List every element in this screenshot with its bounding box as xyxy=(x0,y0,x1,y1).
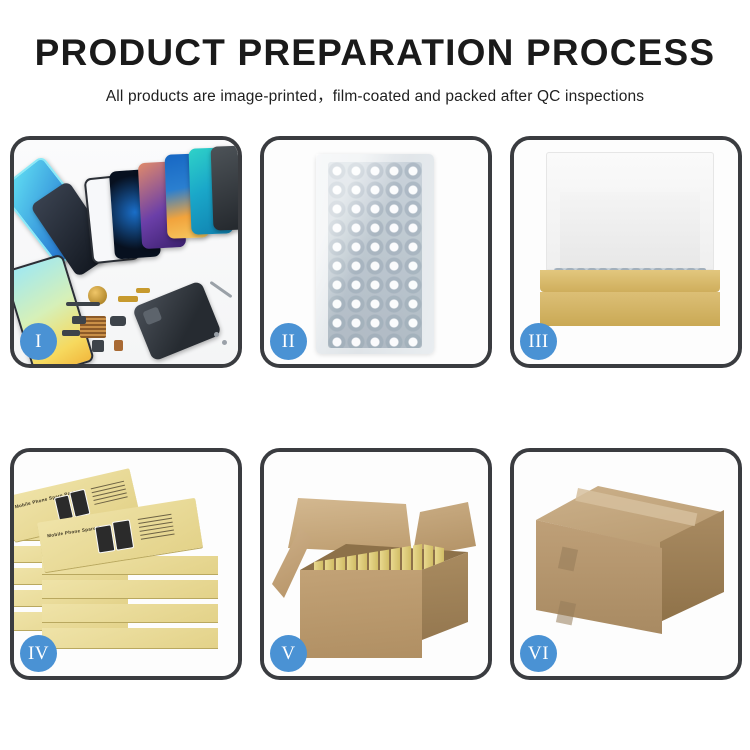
kraft-box-tray xyxy=(540,270,720,292)
sim-tray xyxy=(114,340,123,351)
camera-module xyxy=(110,316,126,326)
step-badge-6: VI xyxy=(520,635,557,672)
flex-cable-gold xyxy=(118,296,138,302)
process-step-5: V xyxy=(260,448,492,680)
step-badge-2: II xyxy=(270,323,307,360)
kraft-box-front xyxy=(540,292,720,326)
carton-front xyxy=(300,570,422,658)
flex-cable-1 xyxy=(66,302,100,306)
process-step-4: Mobile Phone Spare Parts Mob xyxy=(10,448,242,680)
tweezers-icon xyxy=(209,281,232,298)
step-badge-3: III xyxy=(520,323,557,360)
bubble-wrap-pouch xyxy=(316,154,434,354)
retail-box-right-2 xyxy=(42,604,218,622)
box-lid-inner xyxy=(560,192,700,270)
step-badge-1: I xyxy=(20,323,57,360)
process-step-2: II xyxy=(260,136,492,368)
step-badge-5: V xyxy=(270,635,307,672)
battery-connector xyxy=(92,340,104,352)
bubble-pattern xyxy=(328,162,422,348)
screw-1 xyxy=(214,332,219,337)
step-badge-4: IV xyxy=(20,635,57,672)
connector-1 xyxy=(72,316,86,324)
tape-flap-lower xyxy=(556,601,576,626)
retail-box-right-3 xyxy=(42,580,218,598)
phone-screen-grey xyxy=(211,145,238,230)
process-step-1: I xyxy=(10,136,242,368)
retail-box-right-1 xyxy=(42,628,218,648)
connector-2 xyxy=(62,330,80,336)
page-subtitle: All products are image-printed，film-coat… xyxy=(0,84,750,106)
process-step-6: VI xyxy=(510,448,742,680)
page-title: PRODUCT PREPARATION PROCESS xyxy=(0,34,750,73)
screw-2 xyxy=(222,340,227,345)
process-step-grid: I II III xyxy=(10,136,740,680)
flex-cable-gold-2 xyxy=(136,288,150,293)
page-header: PRODUCT PREPARATION PROCESS All products… xyxy=(0,0,750,106)
process-step-3: III xyxy=(510,136,742,368)
